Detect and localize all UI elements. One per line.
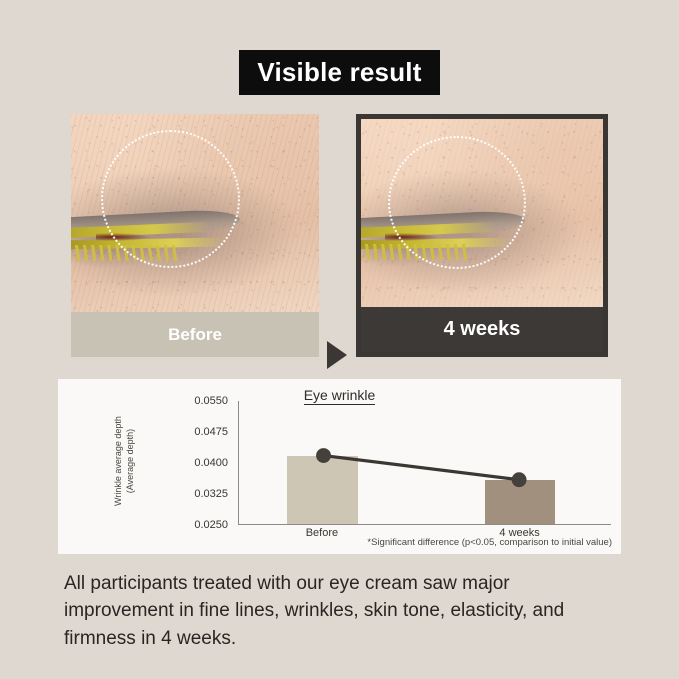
y-axis-ticks: 0.05500.04750.04000.03250.0250 — [182, 401, 234, 525]
y-tick-label: 0.0475 — [194, 426, 228, 438]
chart-plot-area: 0.05500.04750.04000.03250.0250 Before4 w… — [182, 401, 611, 525]
trend-line — [239, 401, 611, 524]
y-tick-label: 0.0325 — [194, 488, 228, 500]
after-photo-panel: 4 weeks — [356, 114, 608, 357]
before-photo-label: Before — [71, 312, 319, 357]
chart-footnote: *Significant difference (p<0.05, compari… — [367, 537, 612, 548]
eye-wrinkle-chart-panel: Eye wrinkle Wrinkle average depth (Avera… — [58, 379, 621, 554]
y-tick-label: 0.0400 — [194, 457, 228, 469]
y-axis-title-line1: Wrinkle average depth — [112, 416, 124, 506]
y-tick-label: 0.0550 — [194, 395, 228, 407]
y-tick-label: 0.0250 — [194, 519, 228, 531]
page-title-banner: Visible result — [239, 50, 440, 95]
y-axis-title: Wrinkle average depth (Average depth) — [54, 401, 194, 521]
summary-caption: All participants treated with our eye cr… — [64, 570, 624, 652]
visible-result-infographic: { "page": { "background_color": "#ded8d0… — [0, 0, 679, 679]
after-photo-image — [361, 119, 603, 309]
after-photo-label: 4 weeks — [361, 307, 603, 352]
y-axis-title-line2: (Average depth) — [124, 429, 136, 493]
before-photo-image — [71, 114, 319, 312]
before-photo-panel: Before — [71, 114, 319, 357]
page-title: Visible result — [257, 57, 421, 88]
dotted-circle-icon — [388, 136, 526, 269]
triangle-right-icon — [327, 341, 347, 369]
dotted-circle-icon — [101, 130, 240, 269]
chart-axes — [238, 401, 611, 525]
before-after-comparison: Before 4 weeks — [0, 114, 679, 357]
x-tick-label: Before — [306, 527, 338, 539]
